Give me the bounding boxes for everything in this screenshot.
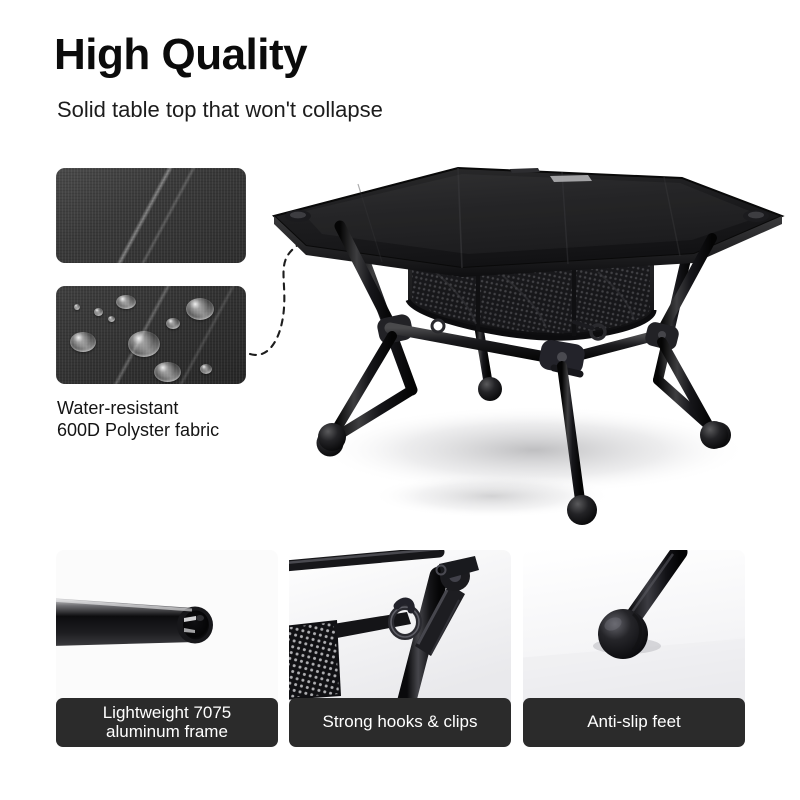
table-top-surface	[274, 168, 782, 277]
anti-slip-foot	[478, 377, 502, 401]
water-droplet	[154, 362, 181, 382]
water-droplet	[128, 331, 160, 357]
page-subtitle: Solid table top that won't collapse	[57, 97, 383, 123]
water-droplet	[108, 316, 115, 322]
fabric-seam-thumbnail	[56, 168, 246, 263]
caption-hooks-clips: Strong hooks & clips	[289, 698, 511, 747]
water-droplet	[116, 295, 136, 309]
folding-camp-table	[262, 150, 792, 550]
product-infographic: High Quality Solid table top that won't …	[0, 0, 800, 800]
page-title: High Quality	[54, 32, 307, 78]
corner-clip	[743, 210, 769, 222]
caption-anti-slip-feet: Anti-slip feet	[523, 698, 745, 747]
hook-clip	[432, 320, 444, 332]
panel-anti-slip-feet	[523, 550, 745, 710]
water-droplet	[186, 298, 214, 320]
panel-hooks-clips	[289, 550, 511, 710]
caption-aluminum-frame: Lightweight 7075 aluminum frame	[56, 698, 278, 747]
water-droplet	[70, 332, 96, 352]
fabric-caption: Water-resistant 600D Polyster fabric	[57, 398, 219, 442]
fabric-droplets-thumbnail	[56, 286, 246, 384]
water-droplet	[94, 308, 103, 316]
anti-slip-foot	[318, 423, 346, 451]
water-droplet	[200, 364, 212, 374]
anti-slip-foot	[700, 421, 728, 449]
anti-slip-foot	[567, 495, 597, 525]
corner-clip	[285, 210, 311, 222]
brand-label	[550, 175, 592, 182]
water-droplet	[74, 304, 80, 310]
panel-aluminum-frame	[56, 550, 278, 710]
water-droplet	[166, 318, 180, 329]
aluminum-tube-photo	[56, 550, 278, 710]
hook-clip-photo	[289, 550, 511, 710]
anti-slip-foot-photo	[523, 550, 745, 710]
fabric-weave-texture	[56, 168, 246, 263]
